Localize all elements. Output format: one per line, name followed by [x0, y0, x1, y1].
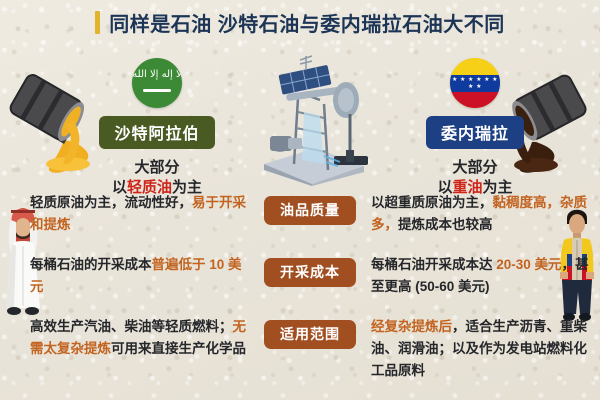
- table-row: 高效生产汽油、柴油等轻质燃料；无需太复杂提炼可用来直接生产化学品 适用范围 经复…: [0, 316, 600, 386]
- country-block-saudi: لا إله إلا الله 沙特阿拉伯 大部分 以轻质油为主: [82, 58, 232, 198]
- flag-sword-shape: [143, 89, 171, 92]
- table-row: 每桶石油的开采成本普遍低于 10 美元 开采成本 每桶石油开采成本达 20-30…: [0, 254, 600, 316]
- saudi-arabia-flag-icon: لا إله إلا الله: [132, 58, 182, 108]
- country-subtitle-line1: 大部分: [82, 158, 232, 178]
- text-segment: 每桶石油的开采成本: [30, 257, 152, 272]
- text-segment-highlight: 经复杂提炼后: [371, 319, 452, 334]
- text-segment-highlight: 20-30 美元: [496, 257, 561, 272]
- category-badge-oil-quality: 油品质量: [264, 196, 356, 225]
- comparison-cell-saudi-quality: 轻质原油为主，流动性好，易于开采和提炼: [30, 192, 252, 236]
- comparison-cell-saudi-cost: 每桶石油的开采成本普遍低于 10 美元: [30, 254, 252, 298]
- table-row: 轻质原油为主，流动性好，易于开采和提炼 油品质量 以超重质原油为主，黏稠度高，杂…: [0, 192, 600, 254]
- text-segment: 提炼成本也较高: [398, 217, 493, 232]
- flag-arabic-text: لا إله إلا الله: [132, 69, 182, 80]
- text-segment: 轻质原油为主，流动性好，: [30, 195, 192, 210]
- category-badge-extraction-cost: 开采成本: [264, 258, 356, 287]
- text-segment: 每桶石油开采成本达: [371, 257, 496, 272]
- comparison-cell-venezuela-cost: 每桶石油开采成本达 20-30 美元，甚至更高 (50-60 美元): [371, 254, 589, 298]
- comparison-table: 轻质原油为主，流动性好，易于开采和提炼 油品质量 以超重质原油为主，黏稠度高，杂…: [0, 192, 600, 386]
- text-segment: 可用来直接生产化学品: [111, 341, 246, 356]
- flag-band-red: [450, 92, 500, 108]
- venezuela-flag-icon: ★ ★ ★ ★ ★ ★ ★ ★: [450, 58, 500, 108]
- title-text: 同样是石油 沙特石油与委内瑞拉石油大不同: [109, 8, 505, 37]
- flag-stars: ★ ★ ★ ★ ★ ★ ★ ★: [450, 77, 500, 91]
- comparison-cell-venezuela-usage: 经复杂提炼后，适合生产沥青、重柴油、润滑油；以及作为发电站燃料化工品原料: [371, 316, 589, 382]
- country-name-badge-saudi: 沙特阿拉伯: [99, 116, 214, 149]
- country-block-venezuela: ★ ★ ★ ★ ★ ★ ★ ★ 委内瑞拉 大部分 以重油为主: [400, 58, 550, 198]
- text-segment: 高效生产汽油、柴油等轻质燃料；: [30, 319, 233, 334]
- page-title: 同样是石油 沙特石油与委内瑞拉石油大不同: [0, 8, 600, 37]
- oil-pumpjack-solar-panel-icon: [258, 52, 370, 186]
- comparison-cell-saudi-usage: 高效生产汽油、柴油等轻质燃料；无需太复杂提炼可用来直接生产化学品: [30, 316, 252, 360]
- country-name-badge-venezuela: 委内瑞拉: [426, 116, 524, 149]
- text-segment: 以超重质原油为主，: [371, 195, 493, 210]
- title-accent-bar: [95, 11, 100, 34]
- category-badge-application-scope: 适用范围: [264, 320, 356, 349]
- comparison-cell-venezuela-quality: 以超重质原油为主，黏稠度高，杂质多，提炼成本也较高: [371, 192, 589, 236]
- infographic-canvas: 同样是石油 沙特石油与委内瑞拉石油大不同: [0, 0, 600, 400]
- country-subtitle-line1: 大部分: [400, 158, 550, 178]
